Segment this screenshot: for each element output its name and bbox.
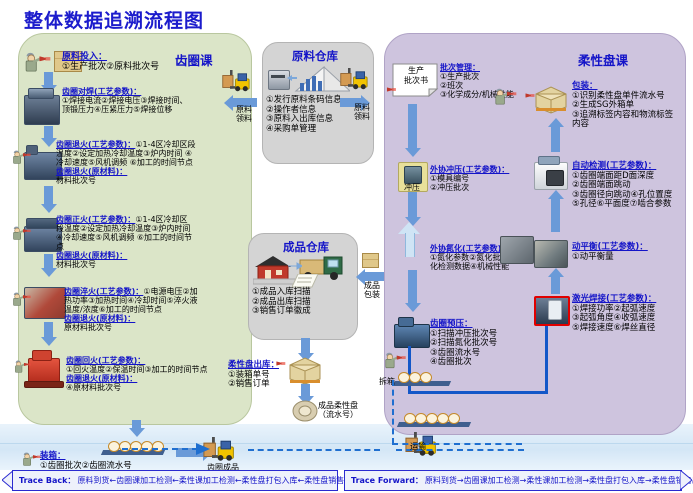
finished-warehouse-list: ①成品入库扫描 ②成品出库扫描 ③销售订单徽成 bbox=[252, 288, 356, 317]
trace-forward-bar: Trace Forward： 原料到货→齿圈课加工检测→柔性课加工检测→柔性盘打… bbox=[344, 470, 682, 491]
step-packaging: 包装： ①识别柔性盘单件流水号 ②生成SG外箱单 ③追溯标签内容和物流标签 内容 bbox=[572, 82, 693, 130]
flexible-disc-outbound: 柔性盘出库： ①装箱单号 ②销售订单 bbox=[228, 361, 338, 390]
step-gear-tempering: 齿圈回火(工艺参数)： ①回火温度②保温时间③加工的时间节点 齿圈退火(原材料)… bbox=[66, 357, 244, 393]
step-raw-material-input-line-0: ①生产批次②原料批次号 bbox=[62, 62, 222, 72]
laser-welding-panel-icon bbox=[548, 300, 562, 320]
step-gear-quenching-line-0: ①电源电压②加 bbox=[143, 287, 197, 296]
dashed-transport-line-left bbox=[248, 449, 380, 451]
step-gear-annealing-line2-0: 材料批次号 bbox=[56, 177, 236, 186]
transport-label: 运输 bbox=[398, 443, 438, 452]
step-gear-normalizing-line2-0: 材料批次号 bbox=[56, 261, 236, 270]
step-gear-butt-welding: 齿圈对焊(工艺参数)： ①焊接电流②焊接电压③焊接时间、 顶锻压力④压紧压力⑤焊… bbox=[62, 88, 234, 115]
arrow-left-printer-icon bbox=[287, 74, 297, 82]
step-gear-normalizing-line-0: ①1-4区冷却区 bbox=[135, 215, 187, 224]
diagram-canvas: 整体数据追溯流程图 齿圈课 原料投入： ①生产批次②原料批次号 齿圈对焊(工艺参… bbox=[0, 0, 693, 493]
step-dynamic-balance: 动平衡(工艺参数)： ①动平衡量 bbox=[572, 243, 693, 262]
dashed-arrow-house-to-truck-icon bbox=[288, 262, 302, 270]
unboxing-label: 拆箱 bbox=[372, 378, 402, 387]
step-raw-material-input: 原料投入： ①生产批次②原料批次号 bbox=[62, 52, 222, 72]
preloading-machine-icon bbox=[394, 324, 430, 348]
normalizing-furnace-top-icon bbox=[26, 218, 58, 229]
dashed-line-to-forklift bbox=[122, 448, 198, 450]
step-gear-preloading-line-3: ④齿圈批次 bbox=[430, 358, 560, 368]
step-packaging-line-3: 内容 bbox=[572, 120, 693, 130]
loop-line-bottom-horizontal bbox=[408, 391, 548, 394]
stamping-machine-body-icon bbox=[404, 166, 422, 184]
welding-machine-top-icon bbox=[28, 88, 54, 99]
step-gear-butt-welding-line-1: 顶锻压力④压紧压力⑤焊接位移 bbox=[62, 106, 234, 115]
trace-forward-arrow-cap bbox=[680, 470, 692, 490]
step-gear-normalizing: 齿圈正火(工艺参数)：①1-4区冷却区 段温度②设定加热冷却温度③炉内时间 ④冷… bbox=[56, 216, 236, 270]
step-auto-inspection: 自动检测(工艺参数)： ①齿圈端面距D面深度 ②齿圈端面跳动 ③齿圈径向跳动④孔… bbox=[572, 162, 693, 210]
barcode-printer-slot-icon bbox=[271, 75, 285, 78]
step-gear-quenching-line2-0: 原材料批次号 bbox=[64, 324, 240, 333]
tempering-machine-top-icon bbox=[32, 350, 52, 361]
raw-material-pick-label-left: 原料 领料 bbox=[224, 106, 264, 124]
flexible-disc-product-icon bbox=[292, 400, 318, 422]
panel-raw-warehouse-title: 原料仓库 bbox=[292, 48, 338, 64]
tempering-machine-base-icon bbox=[24, 381, 64, 388]
step-gear-annealing-line-0: ①1-4区冷却区段 bbox=[135, 140, 195, 149]
production-batch-note-label: 生产 批次书 bbox=[394, 66, 438, 86]
panel-flexible-disc-section-title: 柔性盘课 bbox=[578, 50, 628, 69]
step-packaging-line-2: ③追溯标签内容和物流标签 bbox=[572, 111, 693, 121]
nitriding-plant-photo-icon bbox=[500, 236, 534, 264]
step-gear-annealing: 齿圈退火(工艺参数)：①1-4区冷却区段 温度②设定加热冷却温度③炉内时间 ④ … bbox=[56, 141, 236, 186]
trace-forward-text: 原料到货→齿圈课加工检测→柔性课加工检测→柔性盘打包入库→柔性盘销售出库 bbox=[423, 475, 693, 486]
trace-back-label: Trace Back： bbox=[13, 475, 75, 486]
dashed-transport-line-vertical bbox=[392, 380, 394, 444]
step-gear-quenching: 齿圈淬火(工艺参数)：①电源电压②加 热功率③加热时间④冷却时间⑤淬火液 温度/… bbox=[64, 288, 240, 333]
step-auto-inspection-line-3: ⑤孔径⑥平面度⑦啮合参数 bbox=[572, 200, 693, 210]
preloading-machine-top-icon bbox=[398, 317, 414, 327]
raw-warehouse-line-3: ④采购单管理 bbox=[266, 125, 370, 135]
step-gear-quenching-heading: 齿圈淬火(工艺参数)： bbox=[64, 287, 143, 296]
step-laser-welding: 激光焊接(工艺参数)： ①焊接功率②起弧速度 ③起弧角度④收弧速度 ⑤焊接速度⑥… bbox=[572, 295, 693, 333]
welding-machine-icon bbox=[24, 95, 60, 125]
bottom-conveyor-icon bbox=[396, 412, 474, 430]
shipping-paper-icon bbox=[292, 274, 318, 288]
trace-back-text: 原料到货←齿圈课加工检测←柔性课加工检测←柔性盘打包入库←柔性盘销售出库 bbox=[75, 475, 360, 486]
step-gear-preloading: 齿圈预压： ①扫描冲压批次号 ②扫描氮化批次号 ③齿圈流水号 ④齿圈批次 bbox=[430, 320, 560, 368]
step-gear-normalizing-heading: 齿圈正火(工艺参数)： bbox=[56, 215, 135, 224]
final-product-label: 成品柔性盘 （流水号） bbox=[318, 402, 392, 420]
step-laser-welding-line-2: ⑤焊接速度⑥焊丝直径 bbox=[572, 324, 693, 334]
finished-warehouse-line-2: ③销售订单徽成 bbox=[252, 307, 356, 317]
step-gear-normalizing-line-2: ④冷却速度⑤风机调频 ⑥加工的时间节 bbox=[56, 234, 236, 243]
page-title: 整体数据追溯流程图 bbox=[24, 6, 204, 33]
quenching-machine-icon bbox=[24, 287, 66, 319]
step-raw-material-input-heading: 原料投入： bbox=[62, 52, 222, 62]
packaging-box-icon bbox=[534, 86, 568, 114]
trace-forward-label: Trace Forward： bbox=[345, 475, 423, 486]
auto-inspection-window-icon bbox=[546, 170, 564, 186]
auto-inspection-arm-icon bbox=[538, 156, 560, 165]
flexible-disc-outbound-line-1: ②销售订单 bbox=[228, 380, 338, 390]
dynamic-balance-machine-icon bbox=[534, 240, 568, 268]
step-dynamic-balance-line-0: ①动平衡量 bbox=[572, 253, 693, 263]
step-gear-tempering-line2-0: ④原材料批次号 bbox=[66, 384, 244, 393]
step-gear-annealing-heading: 齿圈退火(工艺参数)： bbox=[56, 140, 135, 149]
raw-material-pick-label-right: 原料 领料 bbox=[344, 104, 380, 122]
trace-back-bar: Trace Back： 原料到货←齿圈课加工检测←柔性课加工检测←柔性盘打包入库… bbox=[12, 470, 338, 491]
finished-package-carton-icon bbox=[362, 253, 379, 268]
dashed-arrow-head-right-icon bbox=[196, 443, 210, 455]
